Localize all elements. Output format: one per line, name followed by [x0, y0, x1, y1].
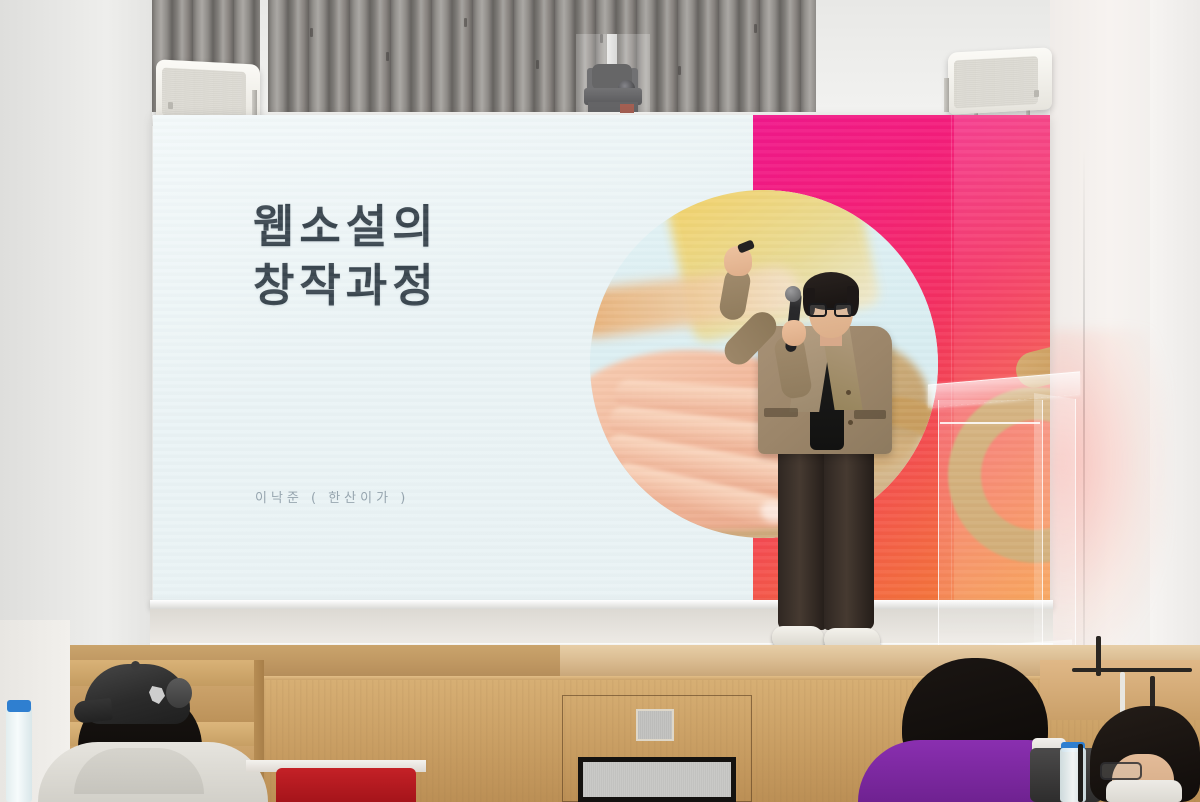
- acrylic-lectern: [928, 378, 1080, 670]
- glasses-icon: [808, 303, 854, 317]
- floor-cable-1: [1072, 668, 1192, 672]
- lecture-hall-photo: 웹소설의 창작과정 이낙준 ( 한산이가 ): [0, 0, 1200, 802]
- slide-subtitle: 이낙준 ( 한산이가 ): [255, 487, 409, 506]
- microphone-head-icon: [785, 286, 801, 302]
- stage-small-vent: [636, 709, 674, 741]
- speaker-grille-right: [954, 56, 1038, 108]
- presenter-legs: [778, 434, 874, 634]
- red-chair: [276, 768, 416, 802]
- audience-face-mask: [1106, 780, 1182, 802]
- mic-stand: [1078, 744, 1083, 802]
- ptz-camera-icon: [578, 52, 648, 114]
- slide-title-line-2: 창작과정: [253, 256, 673, 315]
- presenter: [700, 262, 920, 672]
- water-bottle: [6, 704, 32, 802]
- audience-glasses-icon: [1100, 762, 1142, 780]
- left-wall-column: [0, 0, 152, 680]
- slide-title: 웹소설의 창작과정: [253, 197, 673, 316]
- slide-title-line-1: 웹소설의: [253, 197, 673, 256]
- floor-cable-2: [1096, 636, 1101, 676]
- presenter-head: [803, 274, 859, 340]
- water-bottle-cap: [7, 700, 31, 712]
- stage-large-vent: [578, 757, 736, 802]
- speaker-grille-left: [162, 68, 246, 120]
- cap-brim: [73, 698, 113, 724]
- curtain-center: [268, 0, 816, 112]
